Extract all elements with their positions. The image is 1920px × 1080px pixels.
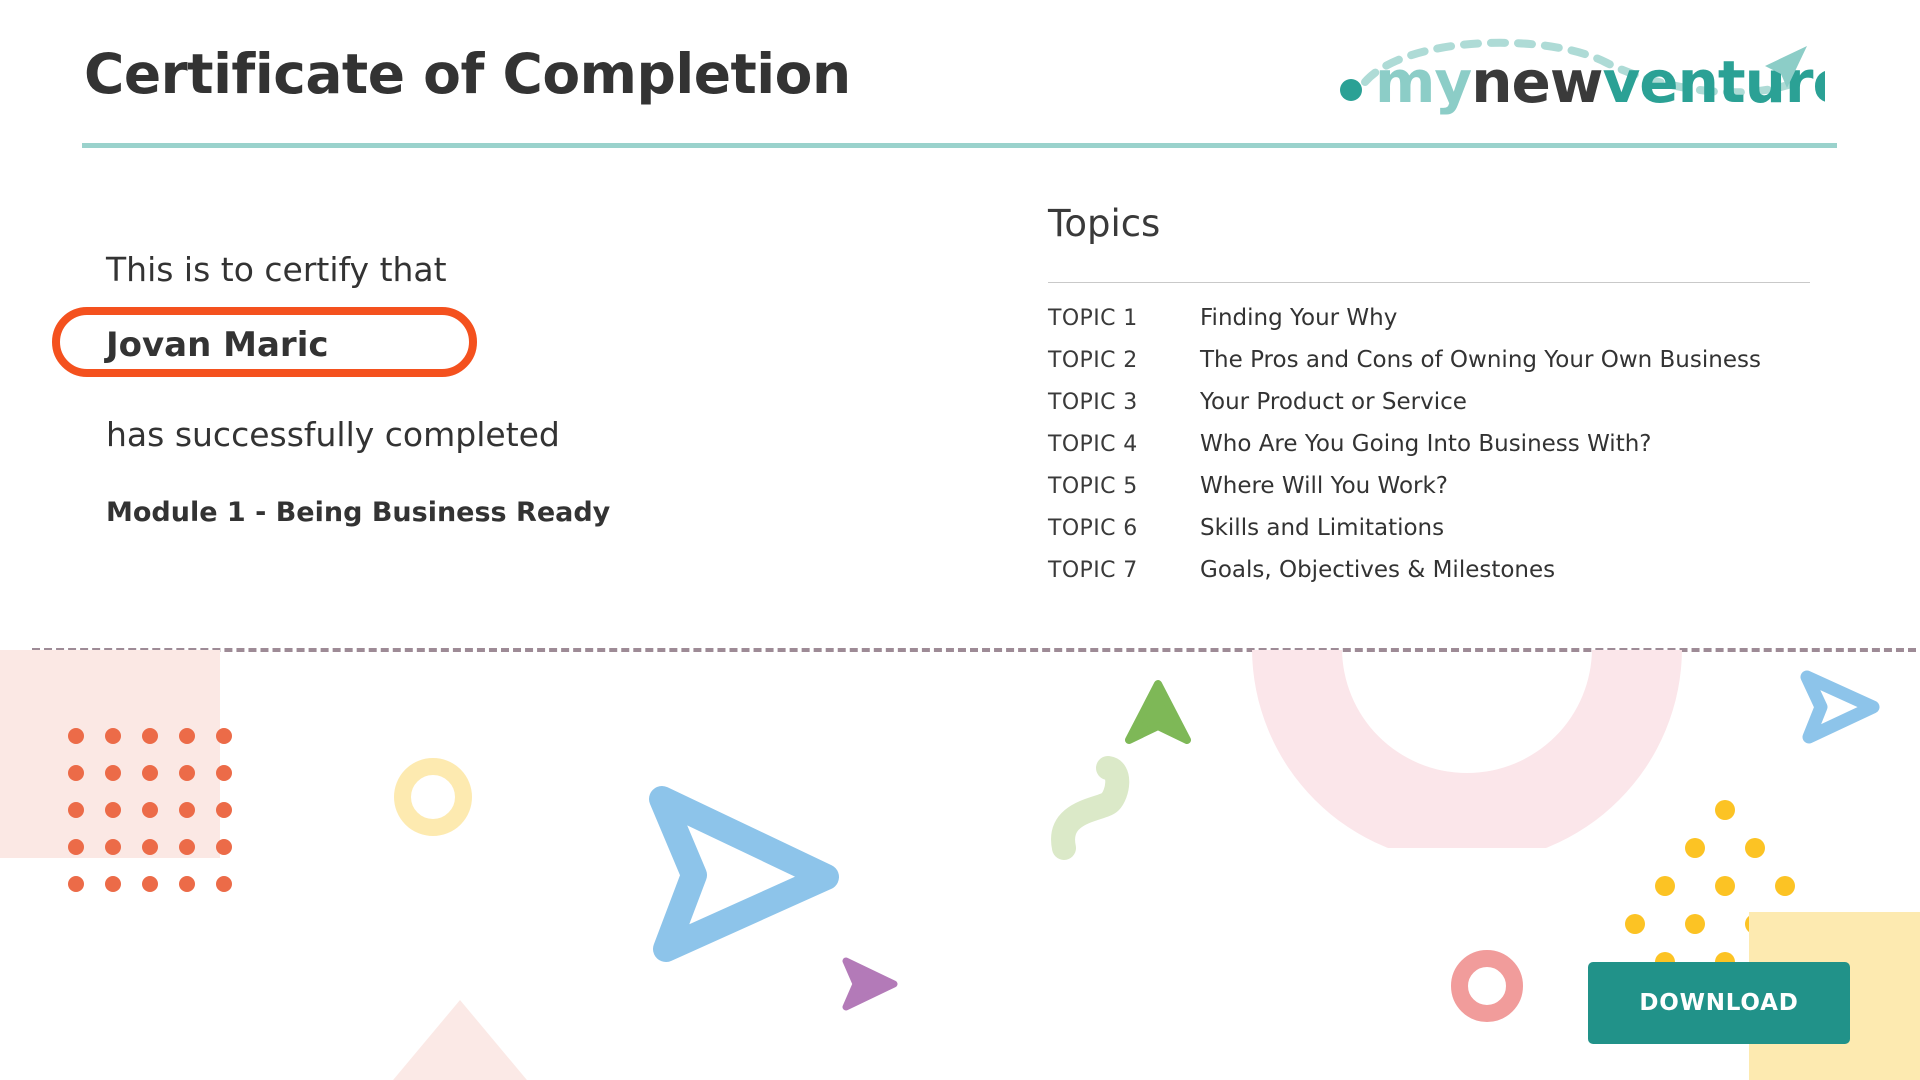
topic-key: TOPIC 1 — [1048, 306, 1200, 331]
page-header: Certificate of Completion mynewventure — [0, 0, 1920, 152]
svg-text:mynewventure: mynewventure — [1375, 48, 1825, 116]
download-button[interactable]: DOWNLOAD — [1588, 962, 1850, 1044]
topic-key: TOPIC 6 — [1048, 516, 1200, 541]
pink-arc-shape — [1252, 650, 1682, 852]
dot-icon — [1340, 79, 1362, 101]
decorative-band: DOWNLOAD — [0, 650, 1920, 1080]
topic-label: The Pros and Cons of Owning Your Own Bus… — [1200, 347, 1761, 373]
topic-key: TOPIC 7 — [1048, 558, 1200, 583]
certify-line: This is to certify that — [106, 250, 447, 289]
green-squiggle-icon — [1050, 750, 1170, 864]
topics-section: Topics TOPIC 1 Finding Your Why TOPIC 2 … — [1048, 205, 1848, 599]
topic-key: TOPIC 3 — [1048, 390, 1200, 415]
topic-label: Goals, Objectives & Milestones — [1200, 557, 1555, 583]
topic-row: TOPIC 6 Skills and Limitations — [1048, 515, 1848, 557]
large-paper-plane-icon — [648, 783, 848, 967]
pink-ring-icon — [1451, 950, 1523, 1022]
mynewventure-logo: mynewventure — [1335, 32, 1825, 120]
topic-row: TOPIC 4 Who Are You Going Into Business … — [1048, 431, 1848, 473]
small-purple-paper-plane-icon — [840, 955, 900, 1017]
certificate-page: Certificate of Completion mynewventure T… — [0, 0, 1920, 1080]
yellow-ring-icon — [394, 758, 472, 836]
topic-row: TOPIC 2 The Pros and Cons of Owning Your… — [1048, 347, 1848, 389]
topic-row: TOPIC 5 Where Will You Work? — [1048, 473, 1848, 515]
topic-label: Where Will You Work? — [1200, 473, 1448, 499]
module-name: Module 1 - Being Business Ready — [106, 497, 610, 528]
orange-dot-grid-icon — [68, 728, 238, 897]
certificate-body: This is to certify that Jovan Maric has … — [0, 160, 1000, 640]
topics-divider — [1048, 282, 1810, 283]
completed-line: has successfully completed — [106, 415, 560, 454]
header-divider — [82, 143, 1837, 148]
page-title: Certificate of Completion — [84, 42, 851, 106]
topic-key: TOPIC 2 — [1048, 348, 1200, 373]
topic-label: Your Product or Service — [1200, 389, 1467, 415]
topic-label: Who Are You Going Into Business With? — [1200, 431, 1652, 457]
pink-triangle-shape — [368, 1000, 552, 1080]
small-blue-paper-plane-icon — [1795, 665, 1885, 753]
green-arrow-icon — [1123, 678, 1193, 752]
topic-row: TOPIC 1 Finding Your Why — [1048, 305, 1848, 347]
topic-key: TOPIC 4 — [1048, 432, 1200, 457]
topic-label: Finding Your Why — [1200, 305, 1397, 331]
topic-row: TOPIC 7 Goals, Objectives & Milestones — [1048, 557, 1848, 599]
topic-key: TOPIC 5 — [1048, 474, 1200, 499]
topic-label: Skills and Limitations — [1200, 515, 1444, 541]
topics-list: TOPIC 1 Finding Your Why TOPIC 2 The Pro… — [1048, 305, 1848, 599]
topics-heading: Topics — [1048, 205, 1848, 244]
recipient-name: Jovan Maric — [106, 325, 329, 365]
topic-row: TOPIC 3 Your Product or Service — [1048, 389, 1848, 431]
